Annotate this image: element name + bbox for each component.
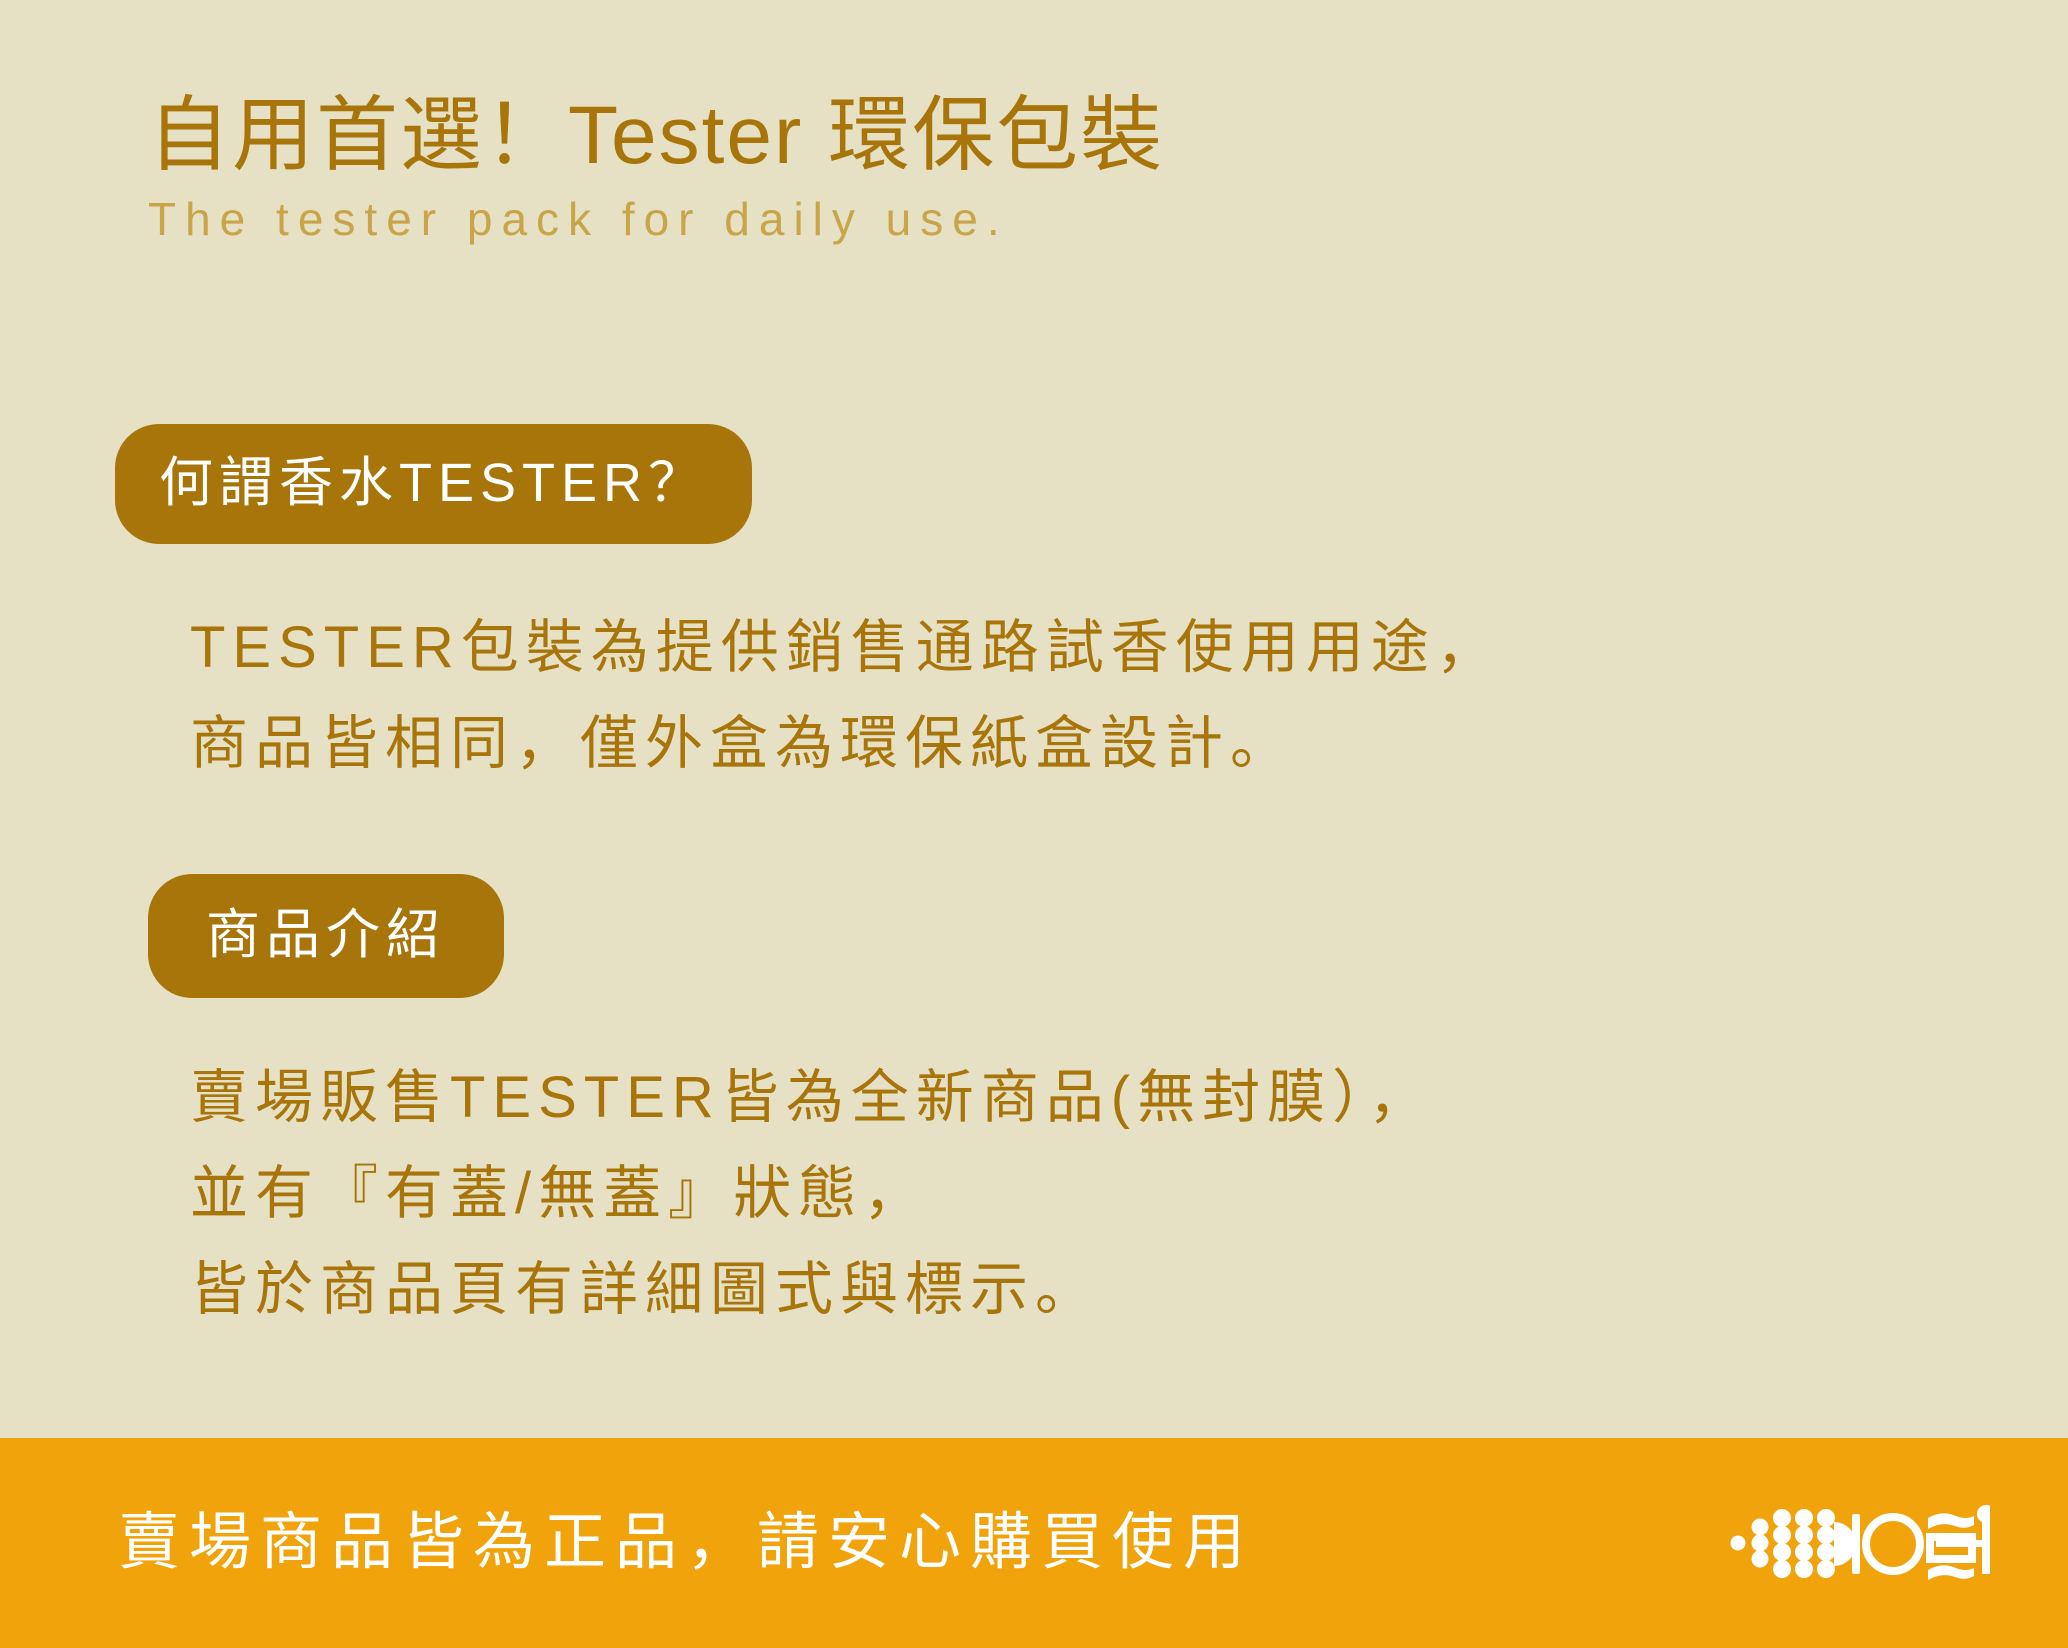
brand-logo-icon xyxy=(1730,1500,1990,1586)
header: 自用首選！Tester 環保包裝 The tester pack for dai… xyxy=(148,88,1948,248)
paragraph-line: 並有『有蓋/無蓋』狀態， xyxy=(190,1146,1433,1242)
footer-bar: 賣場商品皆為正品，請安心購買使用 xyxy=(0,1438,2068,1648)
badge-what-is-tester: 何謂香水TESTER？ xyxy=(115,424,752,544)
paragraph-line: 皆於商品頁有詳細圖式與標示。 xyxy=(190,1242,1433,1338)
section-1-paragraph: TESTER包裝為提供銷售通路試香使用用途， 商品皆相同，僅外盒為環保紙盒設計。 xyxy=(190,600,1501,792)
badge-product-intro: 商品介紹 xyxy=(148,874,504,998)
section-1-badge-wrap: 何謂香水TESTER？ xyxy=(115,424,752,544)
paragraph-line: TESTER包裝為提供銷售通路試香使用用途， xyxy=(190,600,1501,696)
promo-banner: 自用首選！Tester 環保包裝 The tester pack for dai… xyxy=(0,0,2068,1648)
footer-message: 賣場商品皆為正品，請安心購買使用 xyxy=(118,1507,1254,1579)
brand-logo: 10點半 xyxy=(1730,1500,1990,1586)
page-subtitle: The tester pack for daily use. xyxy=(148,190,1948,248)
page-title: 自用首選！Tester 環保包裝 xyxy=(148,88,1948,184)
paragraph-line: 賣場販售TESTER皆為全新商品(無封膜）， xyxy=(190,1050,1433,1146)
paragraph-line: 商品皆相同，僅外盒為環保紙盒設計。 xyxy=(190,696,1501,792)
section-2-paragraph: 賣場販售TESTER皆為全新商品(無封膜）， 並有『有蓋/無蓋』狀態， 皆於商品… xyxy=(190,1050,1433,1338)
section-2-badge-wrap: 商品介紹 xyxy=(148,874,504,998)
